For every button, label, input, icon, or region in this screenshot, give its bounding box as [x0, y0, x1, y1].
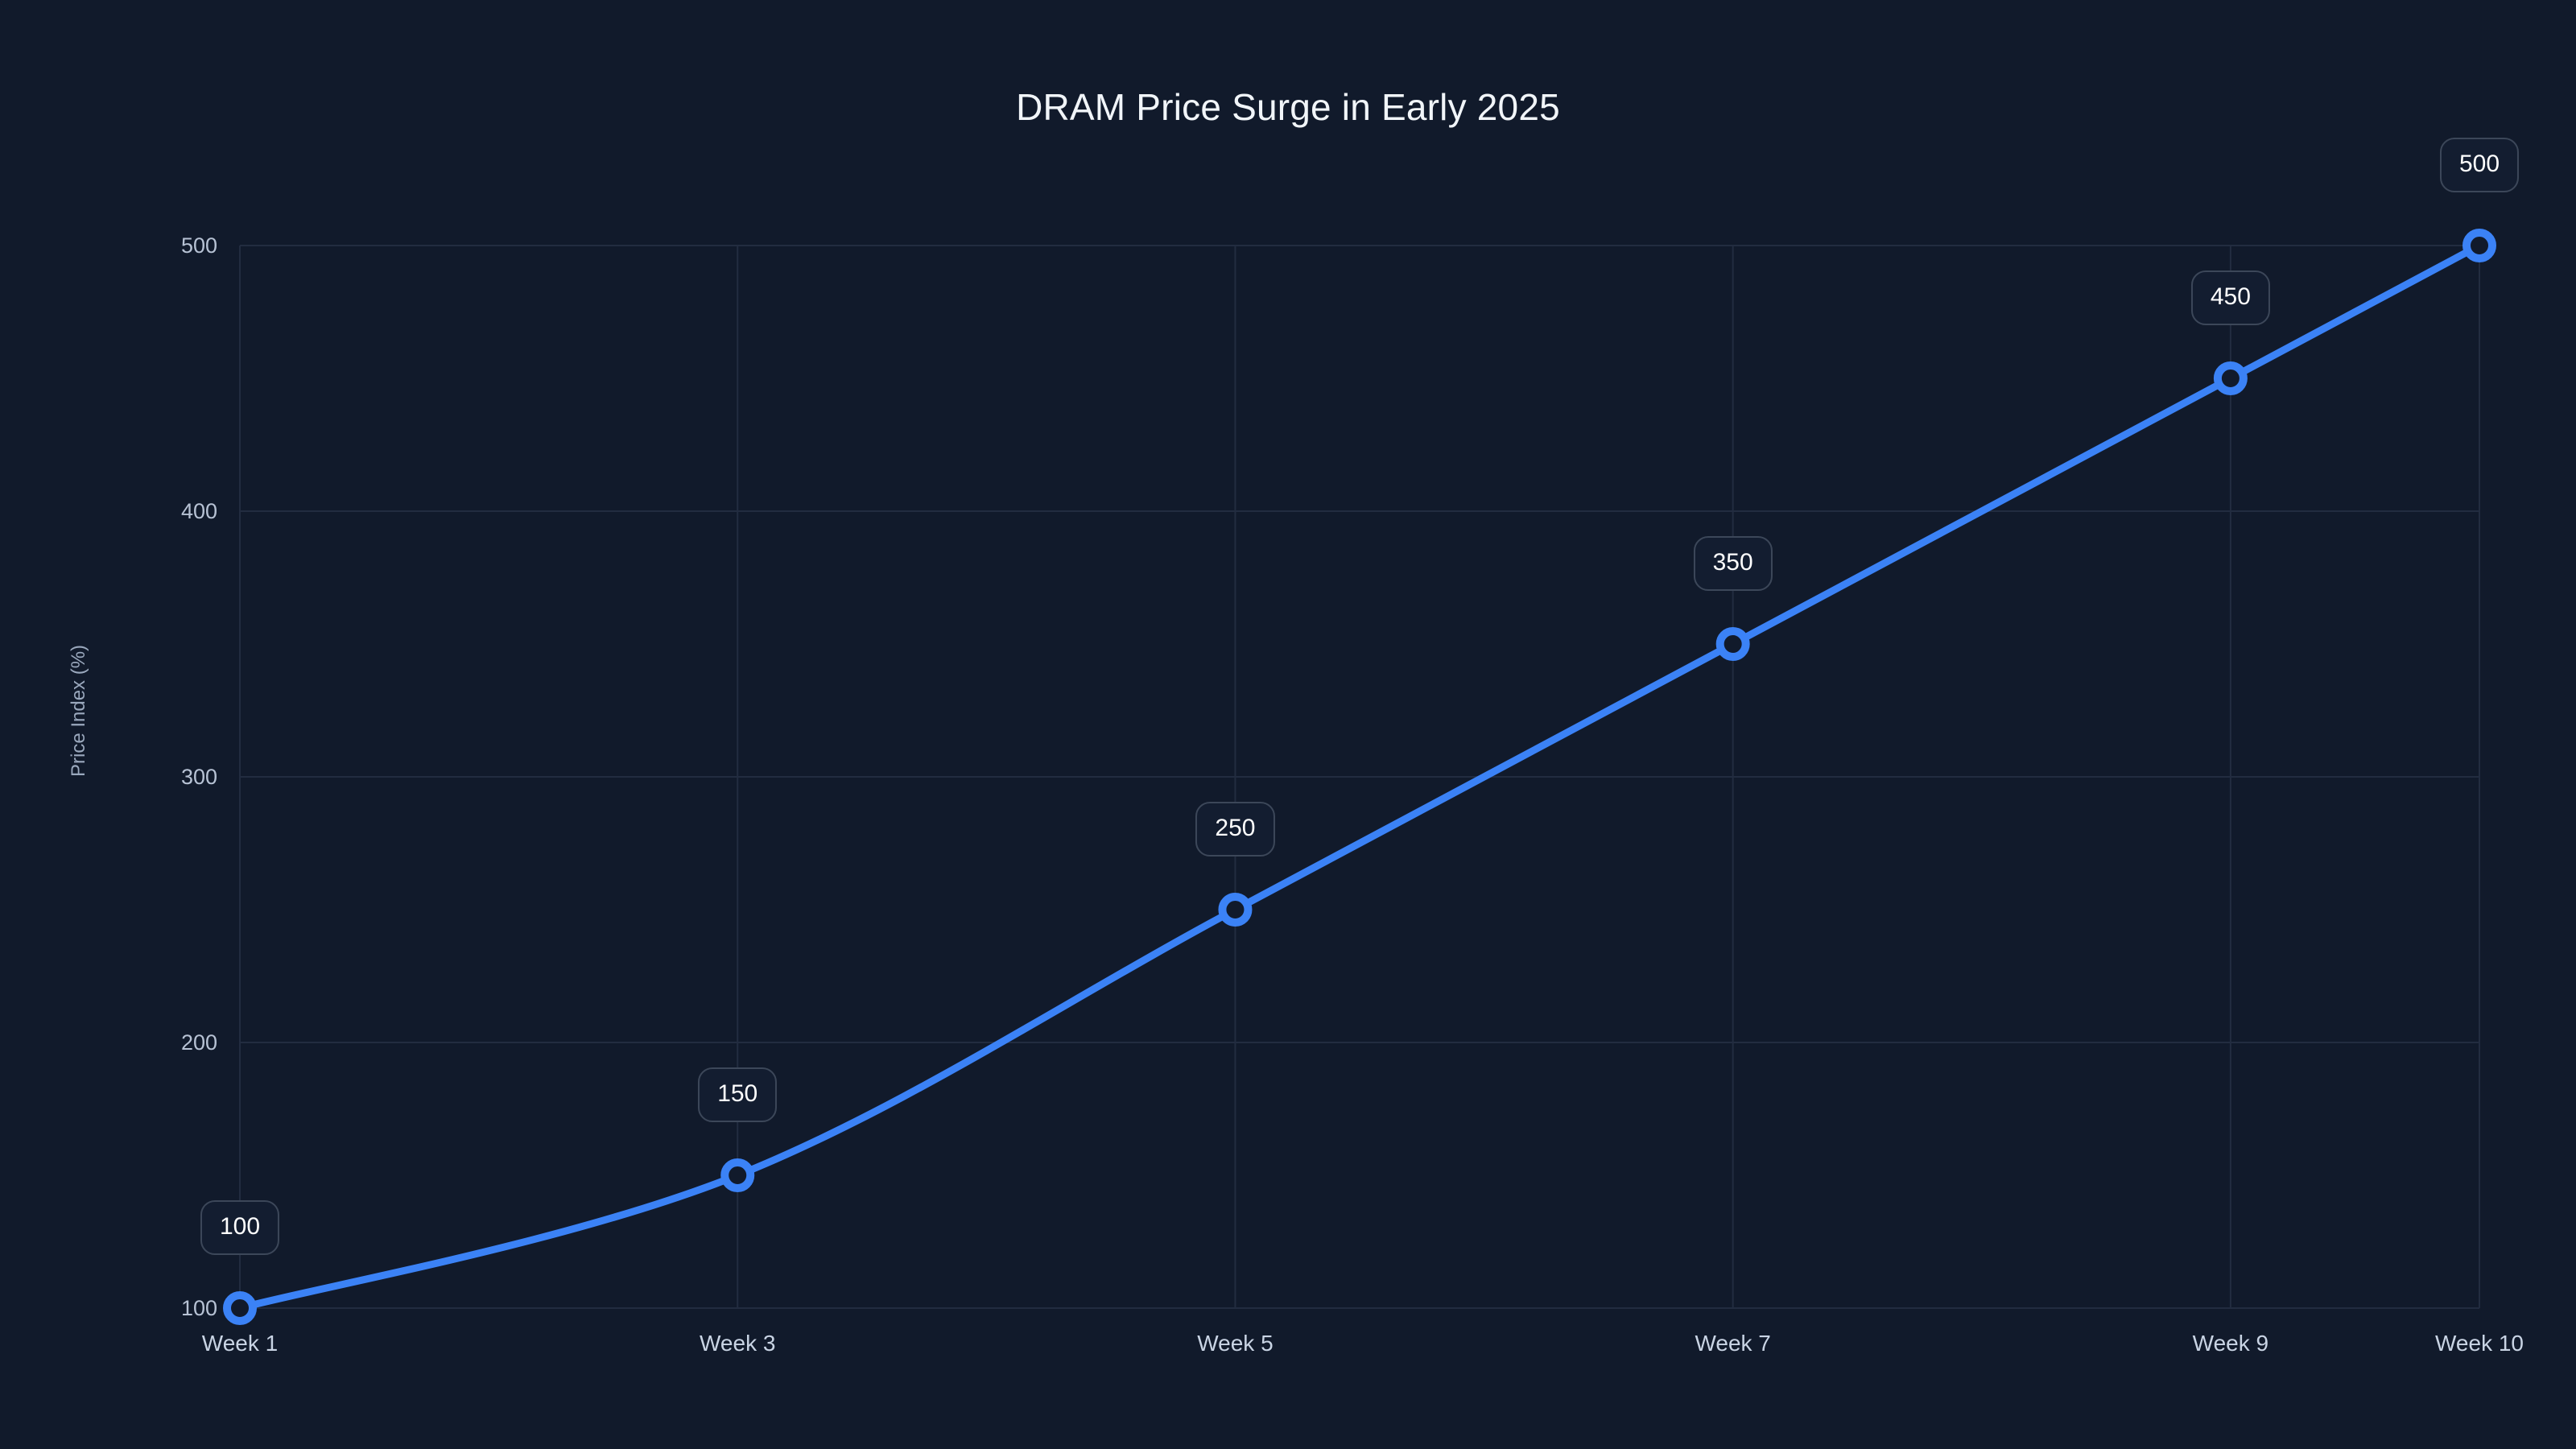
- x-axis-tick-label: Week 1: [202, 1332, 278, 1355]
- data-point-value-label: 500: [2440, 138, 2519, 192]
- data-point-value-label: 250: [1195, 802, 1274, 857]
- x-axis-tick-label: Week 3: [700, 1332, 775, 1355]
- x-axis-tick-label: Week 7: [1695, 1332, 1770, 1355]
- data-point-marker[interactable]: [724, 1162, 750, 1188]
- data-point-marker[interactable]: [2467, 233, 2492, 258]
- x-axis-tick-label: Week 10: [2435, 1332, 2524, 1355]
- data-point-value-label: 150: [698, 1067, 777, 1122]
- data-point-marker[interactable]: [227, 1295, 253, 1321]
- data-point-value-label: 450: [2191, 270, 2270, 325]
- chart-container: DRAM Price Surge in Early 2025 Price Ind…: [0, 0, 2576, 1449]
- data-point-marker[interactable]: [1222, 897, 1248, 923]
- x-axis-tick-label: Week 5: [1197, 1332, 1273, 1355]
- data-point-marker[interactable]: [1720, 631, 1746, 657]
- data-point-value-label: 100: [200, 1200, 279, 1255]
- x-axis-tick-label: Week 9: [2193, 1332, 2268, 1355]
- data-point-value-label: 350: [1694, 536, 1773, 591]
- data-point-marker[interactable]: [2218, 365, 2244, 391]
- gridlines: [240, 246, 2479, 1308]
- plot-area: [0, 0, 2576, 1449]
